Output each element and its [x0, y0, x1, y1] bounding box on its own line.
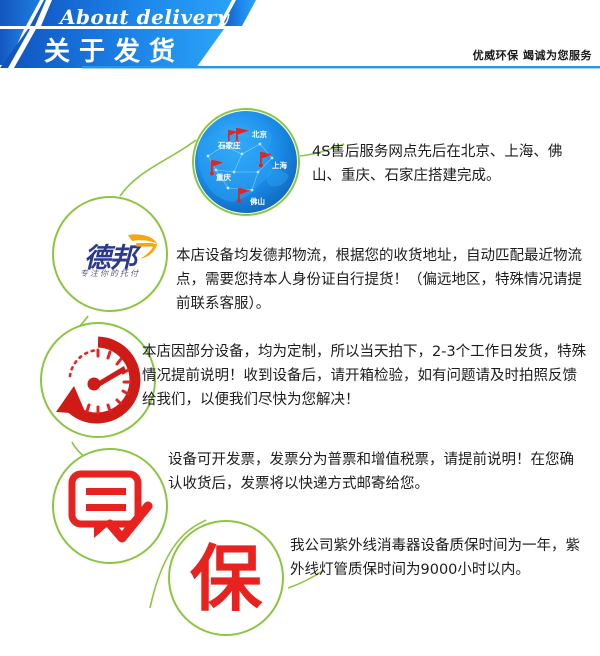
- globe-map-graphic: 北京 石家庄 上海 重庆 佛山: [194, 110, 298, 214]
- delivery-info-page: About delivery 关于发货 优威环保 竭诚为您服务: [0, 0, 600, 656]
- marker-label-shijiazhuang: 石家庄: [217, 140, 241, 150]
- step-text-lead-time: 本店因部分设备，均为定制，所以当天拍下，2-3个工作日发货，特殊情况提前说明！收…: [142, 340, 590, 412]
- step-text-service-network: 4S售后服务网点先后在北京、上海、佛山、重庆、石家庄搭建完成。: [312, 140, 588, 188]
- step-text-warranty: 我公司紫外线消毒器设备质保时间为一年，紫外线灯管质保时间为9000小时以内。: [290, 534, 590, 582]
- invoice-check-graphic: [64, 460, 156, 552]
- speedometer-graphic: [50, 332, 146, 428]
- banner-title-en: About delivery: [60, 5, 229, 29]
- globe-map-icon: 北京 石家庄 上海 重庆 佛山: [192, 108, 300, 216]
- deppon-logo-tagline: 专注你的托付: [54, 268, 166, 279]
- banner-slogan: 优威环保 竭诚为您服务: [473, 47, 592, 63]
- banner-title-cn: 关于发货: [44, 31, 184, 68]
- marker-label-chongqing: 重庆: [216, 172, 231, 182]
- warranty-bao-character: 保: [190, 543, 262, 615]
- marker-label-beijing: 北京: [252, 129, 267, 139]
- marker-label-foshan: 佛山: [249, 196, 265, 206]
- page-header-banner: About delivery 关于发货 优威环保 竭诚为您服务: [0, 0, 600, 78]
- warranty-bao-icon: 保: [168, 520, 284, 636]
- invoice-check-icon: [52, 448, 168, 564]
- marker-label-shanghai: 上海: [272, 160, 287, 170]
- deppon-logo-icon: 德邦 专注你的托付: [52, 196, 168, 312]
- step-text-invoice: 设备可开发票，发票分为普票和增值税票，请提前说明！在您确认收货后，发票将以快递方…: [168, 448, 588, 496]
- step-text-logistics: 本店设备均发德邦物流，根据您的收货地址，自动匹配最近物流点，需要您持本人身份证自…: [176, 244, 588, 316]
- speedometer-timer-icon: [40, 322, 156, 438]
- deppon-arrow-icon: [126, 232, 160, 262]
